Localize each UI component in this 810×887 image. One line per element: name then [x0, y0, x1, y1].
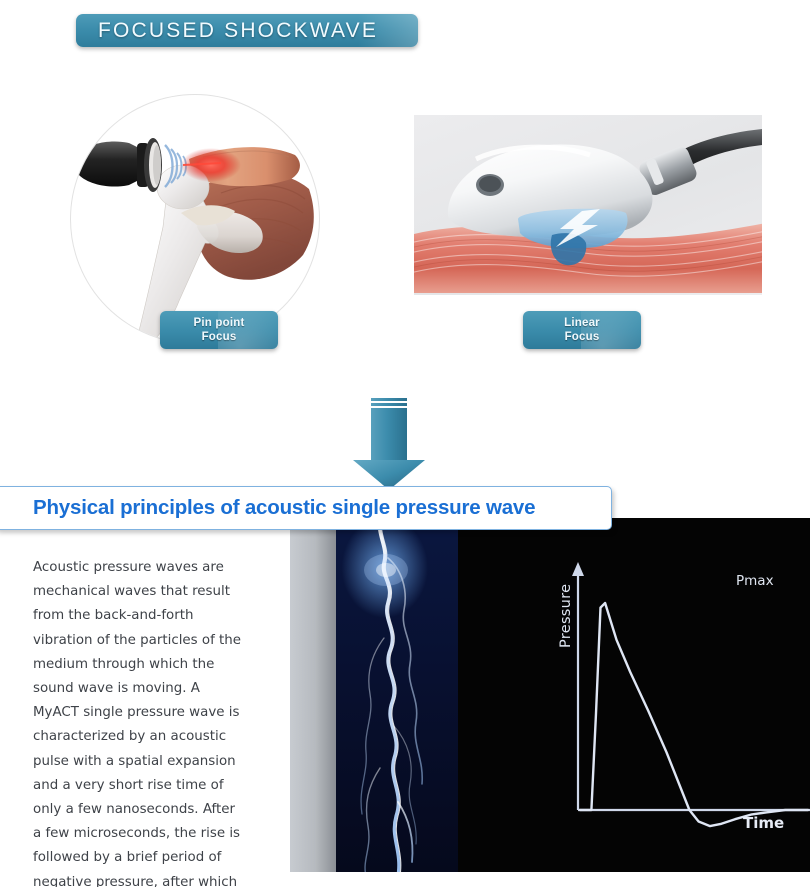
linear-label-line1: Linear: [564, 316, 600, 330]
linear-focus-label: Linear Focus: [523, 311, 641, 349]
lower-section: Pressure Pmax Time Characteristic of a s…: [0, 460, 810, 887]
linear-label-line2: Focus: [565, 330, 600, 344]
pin-point-illustration: [70, 94, 338, 344]
chart-y-axis-label: Pressure: [558, 584, 574, 648]
chart-waveform-line: [580, 603, 808, 826]
page-root: FOCUSED SHOCKWAVE: [0, 0, 810, 887]
circular-frame: [70, 94, 320, 344]
pressure-wave-panel: Pressure Pmax Time Characteristic of a s…: [290, 518, 810, 872]
pressure-wave-chart: Pressure Pmax Time Characteristic of a s…: [458, 518, 810, 872]
section-body-text: Acoustic pressure waves are mechanical w…: [33, 556, 245, 887]
page-title: FOCUSED SHOCKWAVE: [98, 19, 378, 43]
lightning-image: [336, 518, 458, 872]
chart-x-axis-label: Time: [743, 814, 784, 832]
page-title-banner: FOCUSED SHOCKWAVE: [76, 14, 418, 47]
chart-pmax-annotation: Pmax: [736, 573, 774, 589]
linear-focus-illustration: [414, 115, 762, 295]
applicator-probe: [79, 138, 162, 192]
section-header: Physical principles of acoustic single p…: [0, 486, 612, 530]
shoulder-anatomy-graphic: [71, 95, 320, 344]
illustration-row: Pin point Focus: [0, 70, 810, 370]
grey-gradient-strip: [290, 518, 336, 872]
pin-point-label-line2: Focus: [202, 330, 237, 344]
pin-point-focus-label: Pin point Focus: [160, 311, 278, 349]
pin-point-label-line1: Pin point: [194, 316, 245, 330]
section-title: Physical principles of acoustic single p…: [33, 496, 535, 520]
lightning-bolt-icon: [336, 518, 458, 872]
linear-applicator-graphic: [414, 115, 762, 295]
